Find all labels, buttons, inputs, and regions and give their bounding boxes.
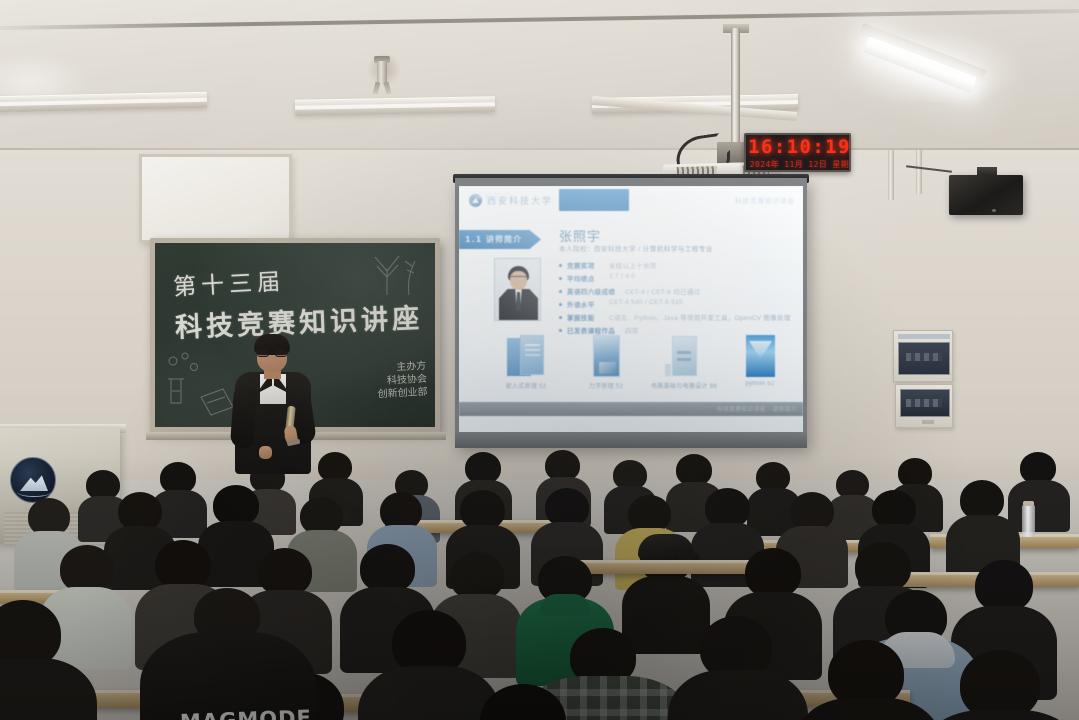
screen-bottom-bar <box>455 432 807 448</box>
presenter-hand-lower <box>259 446 272 459</box>
slide-presenter-subtitle: 本人院校：西安科技大学 / 计算机科学与工程专业 <box>559 243 713 253</box>
chalk-doodle-icon <box>353 251 421 297</box>
slide-footer-text: 科技竞赛知识讲座 · 讲师简介 <box>717 405 797 413</box>
presenter <box>228 334 318 474</box>
clock-time: 16:10:19 <box>746 136 851 158</box>
university-emblem-icon <box>10 457 56 503</box>
slide-section-label: 1.1 讲师简介 <box>465 234 539 245</box>
slide-tab <box>559 189 629 211</box>
projection-screen: 西安科技大学 讲师简介 科技竞赛知识讲座 1.1 讲师简介 张照宇 本人院校：西… <box>455 178 807 448</box>
clock-date: 2024年 11月 12日 星期二 <box>746 159 851 172</box>
book-thumbnail: 嵌入式原理 52 <box>497 334 555 378</box>
slide-bullet: 外语水平 CET-4 540 / CET-6 510 <box>559 298 791 311</box>
slide-portrait-photo <box>494 258 541 321</box>
lecture-hall-photo: 16:10:19 2024年 11月 12日 星期二 <box>0 0 1079 720</box>
slide-tab-label: 讲师简介 <box>459 191 529 202</box>
slide-bullet: 平均绩点 3.7 / 4.0 <box>559 272 791 285</box>
presenter-arm-left <box>230 385 257 448</box>
wall-speaker-icon <box>949 167 1023 215</box>
slide-bullet: 竞赛奖项 省级以上十余项 <box>559 259 791 272</box>
led-wall-clock: 16:10:19 2024年 11月 12日 星期二 <box>744 133 851 172</box>
sprinkler-icon <box>373 56 391 86</box>
slide-footer-bar: 科技竞赛知识讲座 · 讲师简介 <box>459 402 803 416</box>
blackboard-line-1: 第十三届 <box>172 262 286 302</box>
slide-bullet: 英语四六级成绩 CET-4 / CET-6 均已通过 <box>559 285 791 298</box>
presentation-slide: 西安科技大学 讲师简介 科技竞赛知识讲座 1.1 讲师简介 张照宇 本人院校：西… <box>459 186 803 416</box>
book-thumbnail: 电路基础与电路设计 96 <box>655 334 713 378</box>
slide-header-right: 科技竞赛知识讲座 <box>735 195 795 205</box>
blackboard-organizer: 主办方 科技协会 创新创业部 <box>376 360 428 402</box>
slide-bullet-list: 竞赛奖项 省级以上十余项 平均绩点 3.7 / 4.0 英语四六级成绩 CET-… <box>559 259 791 337</box>
book-thumbnail: 力学原理 52 <box>577 334 635 378</box>
wall-conduit-1 <box>888 150 894 200</box>
wall-control-panel-2[interactable] <box>895 384 953 428</box>
wall-conduit-2 <box>916 150 922 194</box>
wall-control-panel-1[interactable] <box>893 330 953 382</box>
whiteboard <box>139 154 292 243</box>
glasses-icon <box>257 349 287 357</box>
book-thumbnail: python 52 <box>731 334 789 378</box>
hood <box>540 594 590 616</box>
water-bottle-icon <box>1022 505 1035 537</box>
slide-book-thumbnails: 嵌入式原理 52 力学原理 52 电路基础与电路设计 96 python 52 <box>479 334 789 396</box>
slide-bullet: 掌握技能 C语言、Python、Java 等常用开发工具，OpenCV 图像处理 <box>559 311 791 324</box>
